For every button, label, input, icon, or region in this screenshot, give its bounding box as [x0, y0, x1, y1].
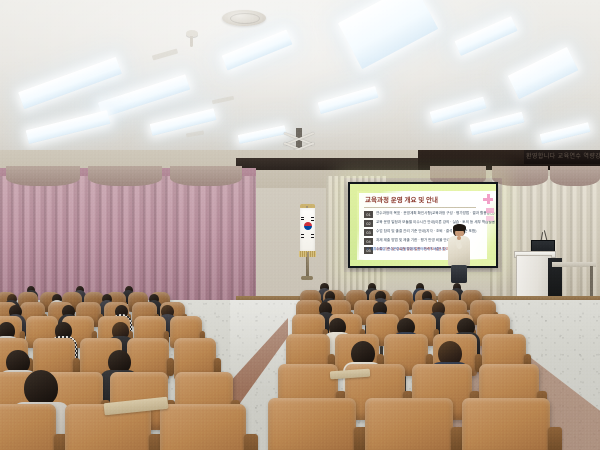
auditorium-seat[interactable] [365, 398, 453, 450]
left-soffit [236, 158, 422, 170]
curtain-valance [170, 166, 242, 186]
presenter-trousers [451, 265, 467, 283]
projection-screen: 교육과정 운영 개요 및 안내 01연수과정의 목표 · 운영계획 확인사항(교… [348, 182, 498, 268]
korean-flag-icon [300, 208, 315, 252]
slide-border-left [350, 184, 357, 266]
audience-head [24, 370, 58, 406]
sprinkler-icon [186, 30, 198, 37]
slide-title: 교육과정 운영 개요 및 안내 [365, 196, 438, 205]
slide-border-bottom [350, 260, 496, 266]
flag-stand-base [301, 276, 313, 280]
wall-banner: 환영합니다 교육연수 역량강화과정 [524, 150, 600, 164]
left-stage-curtain [0, 176, 256, 300]
smoke-detector-icon [222, 10, 266, 26]
auditorium-seat[interactable] [0, 404, 56, 450]
auditorium-seat[interactable] [268, 398, 356, 450]
side-table-leg [590, 266, 593, 296]
slide-border-top [350, 184, 496, 191]
auditorium-seat[interactable] [160, 404, 246, 450]
seat-armrest [167, 358, 174, 376]
auditorium-seat[interactable] [462, 398, 550, 450]
slide-bullet-number: 01 [364, 211, 373, 218]
slide-bullet-number: 03 [364, 229, 373, 236]
lectern [516, 255, 552, 302]
curtain-valance [6, 166, 80, 186]
slide-bullet-text: 과제 제출 방법 및 제출 기한 · 평가 반영 비율 안내 [376, 238, 450, 242]
curtain-valance [550, 166, 600, 186]
slide-bullet-number: 02 [364, 220, 373, 227]
flag-stand-pole [307, 252, 309, 278]
presentation-slide: 교육과정 운영 개요 및 안내 01연수과정의 목표 · 운영계획 확인사항(교… [350, 184, 496, 266]
photograph-scene: 환영합니다 교육연수 역량강화과정 교육과정 운영 개요 및 안내 01연수과정… [0, 0, 600, 450]
presenter [446, 224, 472, 282]
wall-banner-text: 환영합니다 교육연수 역량강화과정 [526, 152, 600, 162]
slide-title-rule [364, 207, 476, 208]
curtain-valance [88, 166, 162, 186]
slide-bullet-number: 04 [364, 238, 373, 245]
slide-bullet-text: 교육 운영 일정과 모듈별 이수시간 안내(이론 강의 · 실습 · 토의 등 … [376, 220, 496, 224]
presenter-hair [453, 224, 466, 231]
slide-accent-block [486, 216, 494, 221]
seat-armrest [548, 427, 562, 450]
slide-accent-block [486, 208, 494, 213]
slide-cross-decoration-icon [483, 194, 493, 204]
taeguk-symbol-icon [304, 222, 312, 230]
seat-armrest [244, 434, 258, 450]
slide-bullet-text: 연수과정의 목표 · 운영계획 확인사항(교육과정 구성 · 평가방법 · 결과… [376, 211, 494, 215]
slide-footnote: ※ 세부사항은 연수운영 담당자에게 문의하시기 바랍니다. [366, 246, 447, 251]
presenter-hand-with-microphone [457, 236, 461, 240]
curtain-valance [492, 166, 548, 186]
